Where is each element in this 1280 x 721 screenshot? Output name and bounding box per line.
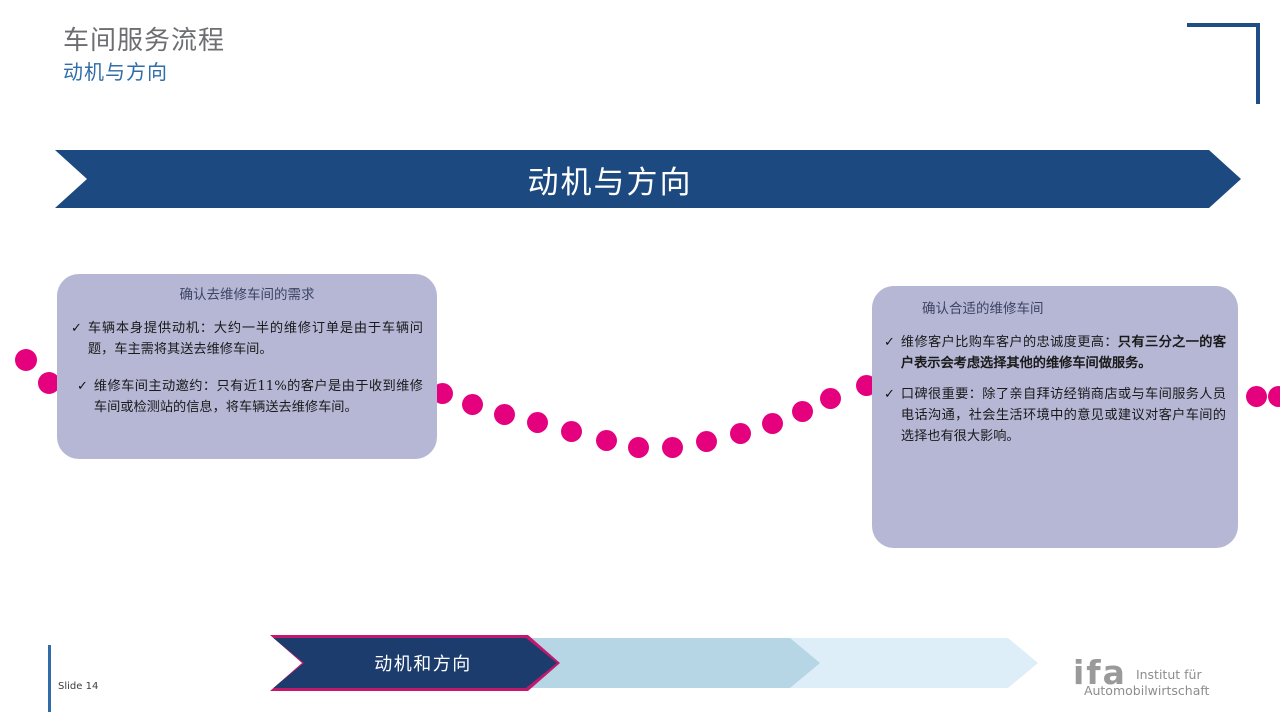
page-title: 车间服务流程 — [63, 26, 225, 56]
curve-dot — [1268, 386, 1280, 407]
curve-dot — [628, 437, 649, 458]
list-item-text-plain: 维修客户比购车客户的忠诚度更高： — [901, 335, 1118, 350]
content-box-need: 确认去维修车间的需求 ✓ 车辆本身提供动机：大约一半的维修订单是由于车辆问题，车… — [57, 274, 437, 459]
curve-dot — [494, 404, 515, 425]
process-chevron-1[interactable]: 动机和方向 — [270, 635, 560, 691]
list-item-text: 维修车间主动邀约：只有近11%的客户是由于收到维修车间或检测站的信息，将车辆送去… — [94, 376, 423, 418]
content-box-choice: 确认合适的维修车间 ✓ 维修客户比购车客户的忠诚度更高：只有三分之一的客户表示会… — [872, 286, 1238, 548]
curve-dot — [820, 388, 841, 409]
curve-dot — [462, 394, 483, 415]
list-item: ✓ 维修车间主动邀约：只有近11%的客户是由于收到维修车间或检测站的信息，将车辆… — [71, 376, 423, 418]
curve-dot — [792, 401, 813, 422]
ifa-logo-text: Institut für Automobilwirtschaft — [1136, 657, 1210, 699]
corner-bracket-vertical — [1256, 23, 1260, 104]
curve-dot — [1246, 386, 1267, 407]
corner-bracket-horizontal — [1187, 23, 1260, 27]
list-item: ✓ 车辆本身提供动机：大约一半的维修订单是由于车辆问题，车主需将其送去维修车间。 — [71, 318, 423, 360]
list-item-text: 车辆本身提供动机：大约一半的维修订单是由于车辆问题，车主需将其送去维修车间。 — [88, 318, 423, 360]
curve-dot — [561, 421, 582, 442]
ifa-logo-line1: Institut für — [1136, 667, 1202, 682]
slide-canvas: 车间服务流程 动机与方向 动机与方向 确认去维修车间的需求 ✓ 车辆本身提供动机… — [0, 0, 1280, 721]
check-icon: ✓ — [71, 318, 82, 360]
process-chevron-1-inner: 动机和方向 — [273, 638, 557, 688]
slide-number-rule — [48, 645, 51, 712]
list-item: ✓ 口碑很重要：除了亲自拜访经销商店或与车间服务人员电话沟通，社会生活环境中的意… — [884, 384, 1226, 447]
curve-dot — [527, 412, 548, 433]
curve-dot — [730, 423, 751, 444]
page-subtitle: 动机与方向 — [63, 59, 225, 85]
content-box-choice-title: 确认合适的维修车间 — [884, 300, 1226, 318]
check-icon: ✓ — [71, 376, 88, 418]
curve-dot — [662, 437, 683, 458]
process-chevron-3[interactable] — [788, 638, 1038, 688]
curve-dot — [762, 413, 783, 434]
process-chevron-2[interactable] — [528, 638, 820, 688]
content-box-need-title: 确认去维修车间的需求 — [71, 286, 423, 304]
content-box-choice-bullets: ✓ 维修客户比购车客户的忠诚度更高：只有三分之一的客户表示会考虑选择其他的维修车… — [884, 332, 1226, 447]
check-icon: ✓ — [884, 384, 895, 447]
list-item: ✓ 维修客户比购车客户的忠诚度更高：只有三分之一的客户表示会考虑选择其他的维修车… — [884, 332, 1226, 374]
curve-dot — [596, 430, 617, 451]
section-banner-label: 动机与方向 — [528, 157, 693, 202]
curve-dot — [15, 349, 37, 371]
process-chevron-1-label: 动机和方向 — [374, 650, 472, 676]
slide-header: 车间服务流程 动机与方向 — [63, 26, 225, 85]
content-box-need-bullets: ✓ 车辆本身提供动机：大约一半的维修订单是由于车辆问题，车主需将其送去维修车间。… — [71, 318, 423, 418]
ifa-logo: ifa Institut für Automobilwirtschaft — [1073, 657, 1209, 699]
slide-number: Slide 14 — [58, 681, 98, 692]
list-item-text: 维修客户比购车客户的忠诚度更高：只有三分之一的客户表示会考虑选择其他的维修车间做… — [901, 332, 1226, 374]
ifa-logo-line2: Automobilwirtschaft — [1084, 683, 1210, 699]
curve-dot — [696, 431, 717, 452]
check-icon: ✓ — [884, 332, 895, 374]
list-item-text: 口碑很重要：除了亲自拜访经销商店或与车间服务人员电话沟通，社会生活环境中的意见或… — [901, 384, 1226, 447]
section-banner: 动机与方向 — [55, 150, 1241, 208]
